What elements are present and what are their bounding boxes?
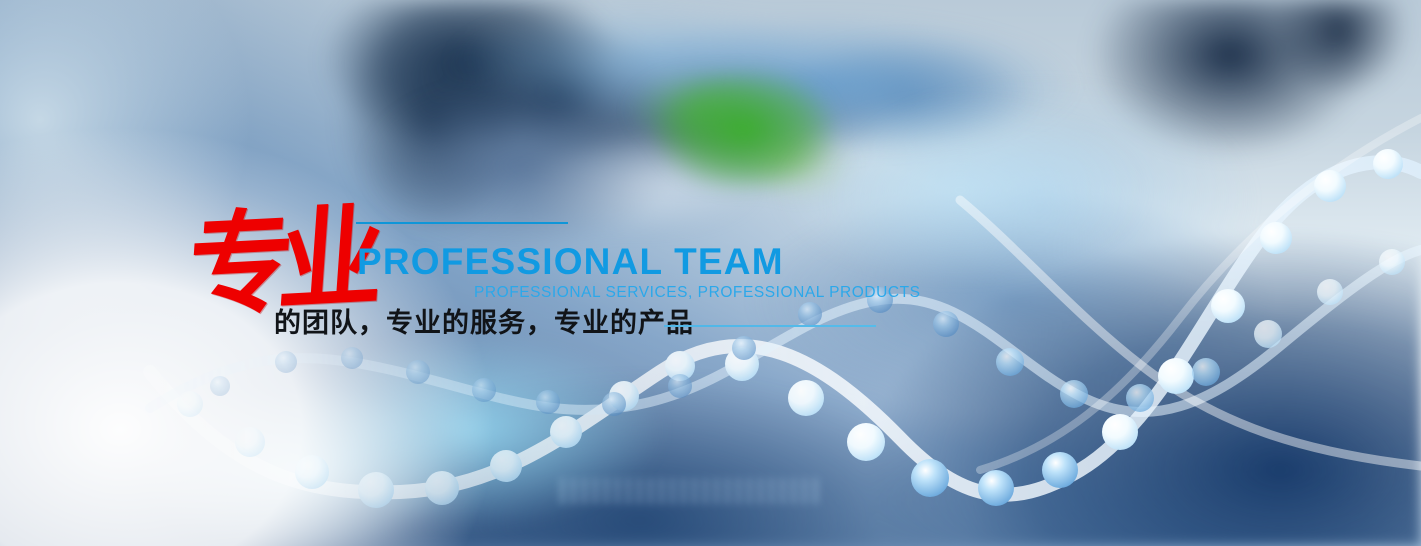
banner-headline: PROFESSIONAL TEAM — [357, 243, 784, 280]
professional-team-banner: 专业 PROFESSIONAL TEAM PROFESSIONAL SERVIC… — [0, 0, 1421, 546]
banner-content: 专业 PROFESSIONAL TEAM PROFESSIONAL SERVIC… — [0, 0, 1421, 546]
banner-chinese-tagline: 的团队，专业的服务，专业的产品 — [274, 307, 694, 341]
decorative-rule-bottom — [664, 325, 876, 327]
decorative-rule-top — [356, 222, 568, 224]
banner-subheadline: PROFESSIONAL SERVICES, PROFESSIONAL PROD… — [474, 285, 921, 301]
